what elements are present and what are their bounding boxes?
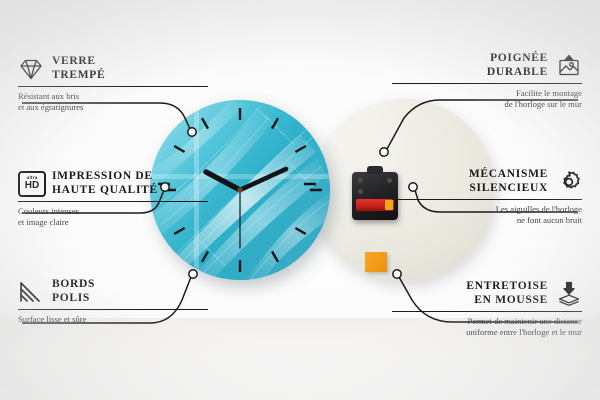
feature-title: POIGNÉE DURABLE	[487, 52, 548, 79]
feature-header: MÉCANISME SILENCIEUX	[392, 168, 582, 195]
feature-title: BORDS POLIS	[52, 278, 95, 305]
feature-description: Couleurs intenses et image claire	[18, 206, 208, 227]
mechanism-screw	[358, 189, 363, 194]
mechanism-hanger-lug	[367, 166, 383, 174]
feature-divider	[18, 201, 208, 202]
diamond-icon	[18, 56, 44, 82]
feature-header: POIGNÉE DURABLE	[392, 52, 582, 79]
ultra-hd-icon: ultra HD	[18, 171, 44, 197]
mechanism-screw	[358, 178, 363, 183]
gear-icon	[556, 169, 582, 195]
polished-edge-icon	[18, 279, 44, 305]
feature-title: MÉCANISME SILENCIEUX	[469, 168, 548, 195]
foam-spacer-pad	[365, 252, 387, 272]
feature-impression-haute-qualite: ultra HD IMPRESSION DE HAUTE QUALITÉ Cou…	[18, 170, 208, 228]
feature-title: IMPRESSION DE HAUTE QUALITÉ	[52, 170, 158, 197]
feature-description: Les aiguilles de l'horloge ne font aucun…	[392, 204, 582, 225]
feature-divider	[392, 83, 582, 84]
feature-divider	[392, 311, 582, 312]
feature-divider	[392, 199, 582, 200]
foam-spacer-icon	[556, 281, 582, 307]
feature-description: Permet de maintenir une distance uniform…	[392, 316, 582, 337]
feature-header: VERRE TREMPÉ	[18, 55, 208, 82]
feature-verre-trempe: VERRE TREMPÉ Résistant aux bris et aux é…	[18, 55, 208, 113]
feature-entretoise-en-mousse: ENTRETOISE EN MOUSSE Permet de maintenir…	[392, 280, 582, 338]
feature-description: Résistant aux bris et aux égratignures	[18, 91, 208, 112]
minute-hand	[240, 169, 286, 190]
feature-divider	[18, 309, 208, 310]
battery	[356, 199, 394, 211]
feature-description: Facilite le montage de l'horloge sur le …	[392, 88, 582, 109]
feature-header: ENTRETOISE EN MOUSSE	[392, 280, 582, 307]
infographic-stage: VERRE TREMPÉ Résistant aux bris et aux é…	[0, 0, 600, 400]
feature-description: Surface lisse et sûre	[18, 314, 208, 325]
hour-hand	[206, 172, 240, 190]
feature-mecanisme-silencieux: MÉCANISME SILENCIEUX Les aiguilles de l'…	[392, 168, 582, 226]
picture-hanger-icon	[556, 53, 582, 79]
feature-title: VERRE TREMPÉ	[52, 55, 105, 82]
feature-title: ENTRETOISE EN MOUSSE	[466, 280, 548, 307]
clock-center-cap	[237, 187, 242, 192]
feature-divider	[18, 86, 208, 87]
feature-poignee-durable: POIGNÉE DURABLE Facilite le montage de l…	[392, 52, 582, 110]
feature-bords-polis: BORDS POLIS Surface lisse et sûre	[18, 278, 208, 325]
feature-header: ultra HD IMPRESSION DE HAUTE QUALITÉ	[18, 170, 208, 197]
feature-header: BORDS POLIS	[18, 278, 208, 305]
